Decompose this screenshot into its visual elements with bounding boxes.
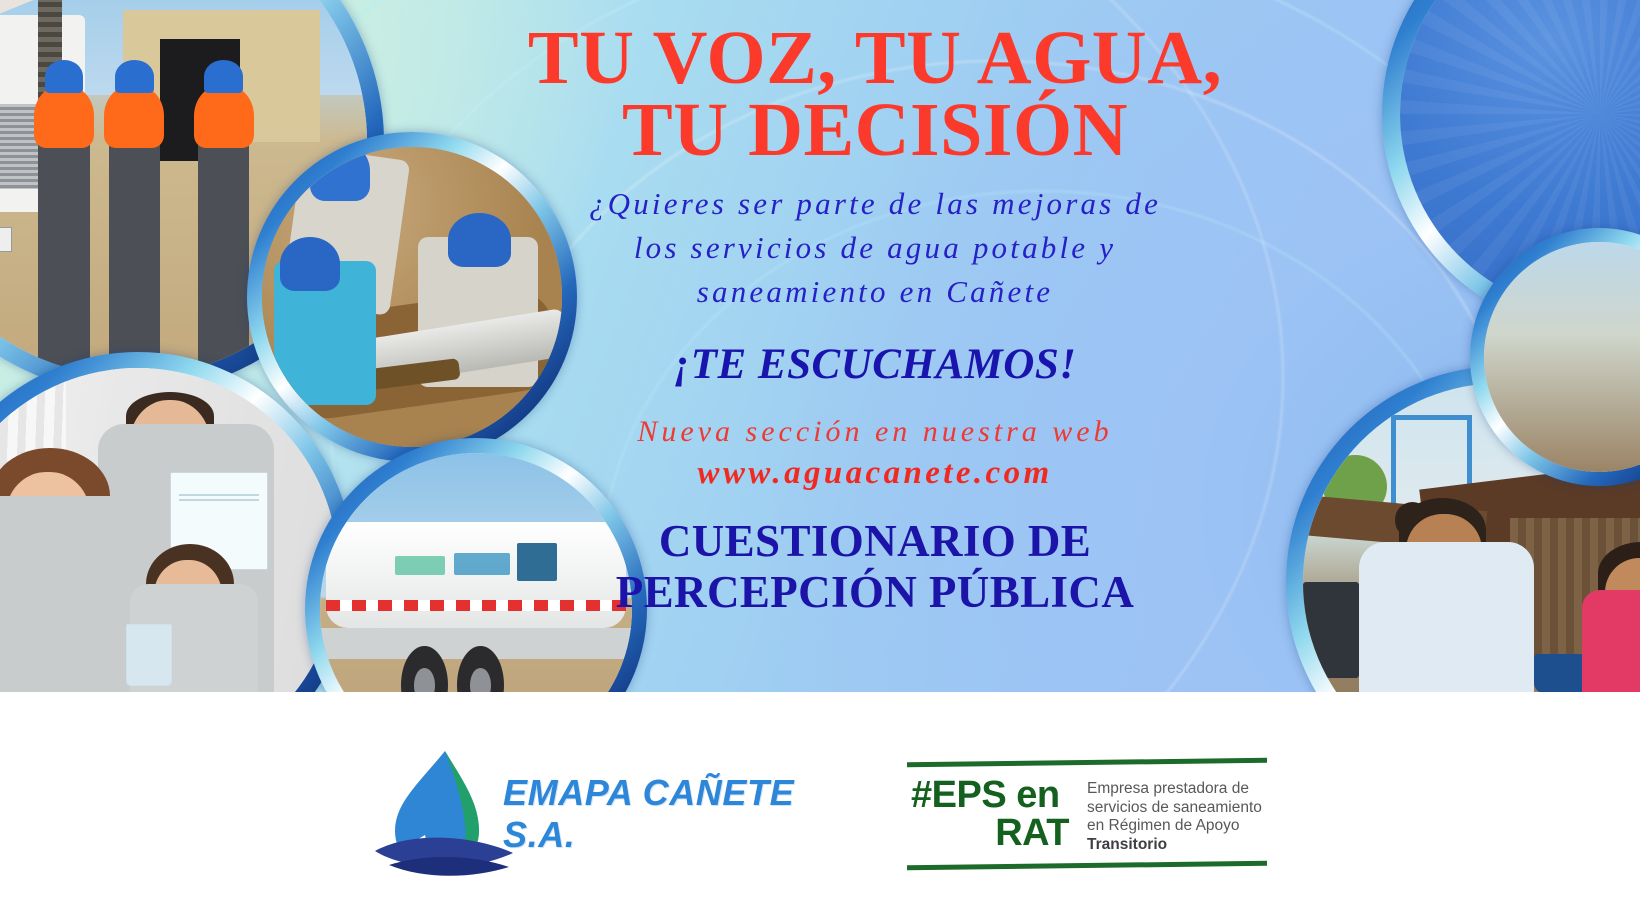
subtitle: ¿Quieres ser parte de las mejoras de los… (470, 182, 1280, 314)
rat-desc-line-3: en Régimen de Apoyo (1087, 817, 1262, 836)
photo-circle-construction (1470, 228, 1640, 486)
water-drop-icon (367, 739, 517, 889)
headline-line-2: TU DECISIÓN (470, 94, 1280, 166)
web-intro-text: Nueva sección en nuestra web (470, 415, 1280, 449)
page-title: TU VOZ, TU AGUA, TU DECISIÓN (470, 22, 1280, 166)
rat-description: Empresa prestadora de servicios de sanea… (1087, 776, 1262, 854)
rat-rule-bottom (907, 861, 1267, 870)
rat-wordmark-line-1: #EPS en (911, 776, 1069, 814)
eps-rat-logo: #EPS en RAT Empresa prestadora de servic… (901, 754, 1273, 874)
subtitle-line-1: ¿Quieres ser parte de las mejoras de (470, 182, 1280, 226)
text-content: TU VOZ, TU AGUA, TU DECISIÓN ¿Quieres se… (470, 8, 1280, 617)
rat-wordmark-line-2: RAT (911, 814, 1069, 852)
rat-desc-line-2: servicios de saneamiento (1087, 799, 1262, 818)
footer: EMAPA CAÑETE S.A. #EPS en RAT Empresa pr… (0, 692, 1640, 924)
rat-desc-line-4: Transitorio (1087, 836, 1167, 853)
cuestionario-heading: CUESTIONARIO DE PERCEPCIÓN PÚBLICA (470, 516, 1280, 617)
headline-line-1: TU VOZ, TU AGUA, (470, 22, 1280, 94)
website-url[interactable]: www.aguacanete.com (470, 455, 1280, 492)
subtitle-line-2: los servicios de agua potable y (470, 226, 1280, 270)
subtitle-line-3: saneamiento en Cañete (470, 270, 1280, 314)
rat-wordmark: #EPS en RAT (911, 776, 1069, 852)
promotional-banner: TU VOZ, TU AGUA, TU DECISIÓN ¿Quieres se… (0, 0, 1640, 924)
cuestionario-line-1: CUESTIONARIO DE (470, 516, 1280, 566)
emapa-logo-text: EMAPA CAÑETE S.A. (503, 772, 837, 856)
escuchamos-callout: ¡TE ESCUCHAMOS! (470, 340, 1280, 389)
construction-site-photo (1484, 242, 1640, 472)
rat-desc-line-1: Empresa prestadora de (1087, 780, 1262, 799)
rat-rule-top (907, 758, 1267, 767)
emapa-logo: EMAPA CAÑETE S.A. (367, 734, 837, 894)
cuestionario-line-2: PERCEPCIÓN PÚBLICA (470, 567, 1280, 617)
